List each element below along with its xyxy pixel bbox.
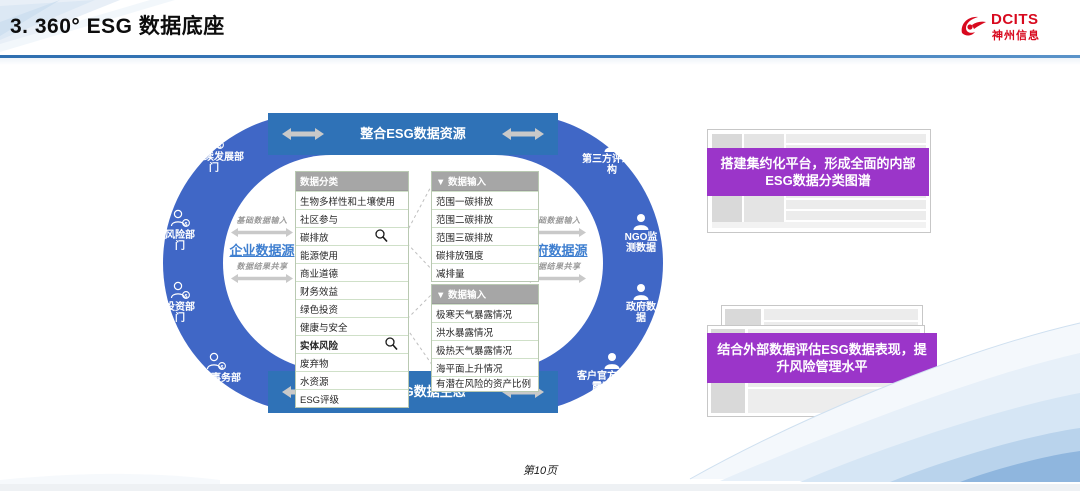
node-government-data[interactable]: 政府数 据 <box>613 283 669 324</box>
svg-text:$: $ <box>221 365 224 371</box>
node-ngo-data[interactable]: NGO监 测数据 <box>613 213 669 254</box>
callout-banner: 结合外部数据评估ESG数据表现，提升风险管理水平 <box>707 333 937 383</box>
table-row[interactable]: 水资源 <box>296 371 408 389</box>
dept-investment[interactable]: $ 投资部 门 <box>141 281 219 324</box>
table-row[interactable]: 健康与安全 <box>296 317 408 335</box>
row-label: 健康与安全 <box>300 323 348 334</box>
table-row[interactable]: 海平面上升情况 <box>432 358 538 376</box>
row-label: 实体风险 <box>300 341 338 352</box>
node-third-party-rating[interactable]: 第三方评级机 构 <box>575 135 649 176</box>
footer-bar <box>0 484 1080 491</box>
node-label-l2: 露及估测 <box>592 382 632 393</box>
header-divider-shadow <box>0 58 1080 65</box>
table-row[interactable]: 碳排放强度 <box>432 245 538 263</box>
node-label-l2: 构 <box>607 165 617 176</box>
node-label-l1: 客户官方信息披 <box>577 371 647 382</box>
magnifier-icon[interactable] <box>385 337 398 350</box>
person-icon <box>631 213 651 231</box>
table-data-input-carbon: ▼ 数据输入 范围一碳排放 范围二碳排放 范围三碳排放 碳排放强度 减排量 <box>431 171 539 282</box>
dept-label-l2: 门 <box>175 241 185 252</box>
table-header: 数据分类 <box>296 172 408 191</box>
table-row[interactable]: 能源使用 <box>296 245 408 263</box>
callout-external-data-risk: 结合外部数据评估ESG数据表现，提升风险管理水平 <box>707 305 937 423</box>
band-top: 整合ESG数据资源 <box>268 113 558 155</box>
table-row[interactable]: 废弃物 <box>296 353 408 371</box>
row-label: 生物多样性和土壤使用 <box>300 197 395 208</box>
table-row[interactable]: 范围三碳排放 <box>432 227 538 245</box>
row-label: 财务效益 <box>300 287 338 298</box>
logo-text-cn: 神州信息 <box>992 27 1040 43</box>
table-row[interactable]: 生物多样性和土壤使用 <box>296 191 408 209</box>
table-row[interactable]: ESG评级 <box>296 389 408 407</box>
magnifier-icon[interactable] <box>375 229 388 242</box>
person-money-icon: $ <box>169 209 191 229</box>
dept-label-l1: 投资部 <box>165 302 195 313</box>
row-label: 绿色投资 <box>300 305 338 316</box>
row-label: 社区参与 <box>300 215 338 226</box>
page-number: 第10页 <box>0 462 1080 478</box>
table-row[interactable]: 有潜在风险的资产比例 <box>432 376 538 391</box>
table-row[interactable]: 洪水暴露情况 <box>432 322 538 340</box>
row-label: 水资源 <box>300 377 329 388</box>
callout-intensive-platform: 搭建集约化平台，形成全面的内部ESG数据分类图谱 <box>707 129 929 241</box>
table-row[interactable]: 绿色投资 <box>296 299 408 317</box>
row-label: 能源使用 <box>300 251 338 262</box>
node-label-l2: 测数据 <box>626 243 656 254</box>
table-row[interactable]: 碳排放 <box>296 227 408 245</box>
node-label-l1: NGO监 <box>625 232 658 243</box>
person-icon <box>631 283 651 301</box>
table-header: ▼ 数据输入 <box>432 172 538 191</box>
row-label: 商业道德 <box>300 269 338 280</box>
logo-text-en: DCITS <box>991 11 1039 28</box>
table-row[interactable]: 减排量 <box>432 263 538 281</box>
table-row[interactable]: 实体风险 <box>296 335 408 353</box>
dept-label-l1: 风险部 <box>165 230 195 241</box>
table-data-input-risk: ▼ 数据输入 极寒天气暴露情况 洪水暴露情况 极热天气暴露情况 海平面上升情况 … <box>431 284 539 392</box>
page-title: 3. 360° ESG 数据底座 <box>10 10 225 40</box>
row-label: 碳排放 <box>300 233 329 244</box>
node-label-l1: 第三方评级机 <box>582 154 642 165</box>
person-icon <box>602 352 622 370</box>
company-logo: DCITS 神州信息 <box>958 9 1066 45</box>
slide-header: 3. 360° ESG 数据底座 DCITS 神州信息 <box>0 0 1080 57</box>
row-label: 废弃物 <box>300 359 329 370</box>
svg-text:$: $ <box>185 294 188 300</box>
row-label: ESG评级 <box>300 395 339 406</box>
dept-label-l1: 可持续发展部 <box>184 152 244 163</box>
callout-banner: 搭建集约化平台，形成全面的内部ESG数据分类图谱 <box>707 148 929 196</box>
double-arrow-icon <box>231 227 293 238</box>
double-arrow-icon <box>282 126 324 142</box>
node-label-l1: 政府数 <box>626 302 656 313</box>
dept-label-l2: 门 <box>211 384 221 395</box>
table-row[interactable]: 财务效益 <box>296 281 408 299</box>
dcits-mark-icon <box>958 13 988 39</box>
node-label-l2: 据 <box>636 313 646 324</box>
dept-public-affairs[interactable]: $ 公共事务部 门 <box>177 352 255 395</box>
person-money-icon: $ <box>169 281 191 301</box>
table-row[interactable]: 范围一碳排放 <box>432 191 538 209</box>
dept-label-l2: 门 <box>175 313 185 324</box>
dept-label-l1: 公共事务部 <box>191 373 241 384</box>
table-header: ▼ 数据输入 <box>432 285 538 304</box>
double-arrow-icon <box>231 273 293 284</box>
table-row[interactable]: 范围二碳排放 <box>432 209 538 227</box>
person-money-icon: $ <box>205 352 227 372</box>
svg-text:$: $ <box>219 144 222 150</box>
table-row[interactable]: 极寒天气暴露情况 <box>432 304 538 322</box>
table-data-classification: 数据分类 生物多样性和土壤使用 社区参与 碳排放 能源使用 商业道德 财务效益 … <box>295 171 409 408</box>
node-client-disclosure[interactable]: 客户官方信息披 露及估测 <box>571 352 653 393</box>
dept-label-l2: 门 <box>209 163 219 174</box>
esg-data-foundation-diagram: 整合ESG数据资源 形成ESG数据生态 $ 可持续发展部 门 <box>163 113 663 413</box>
table-row[interactable]: 商业道德 <box>296 263 408 281</box>
dept-sustainability[interactable]: $ 可持续发展部 门 <box>175 131 253 174</box>
double-arrow-icon <box>502 126 544 142</box>
table-row[interactable]: 社区参与 <box>296 209 408 227</box>
bottom-left-decoration <box>0 430 220 491</box>
svg-text:$: $ <box>185 222 188 228</box>
table-row[interactable]: 极热天气暴露情况 <box>432 340 538 358</box>
person-icon <box>602 135 622 153</box>
person-money-icon: $ <box>203 131 225 151</box>
